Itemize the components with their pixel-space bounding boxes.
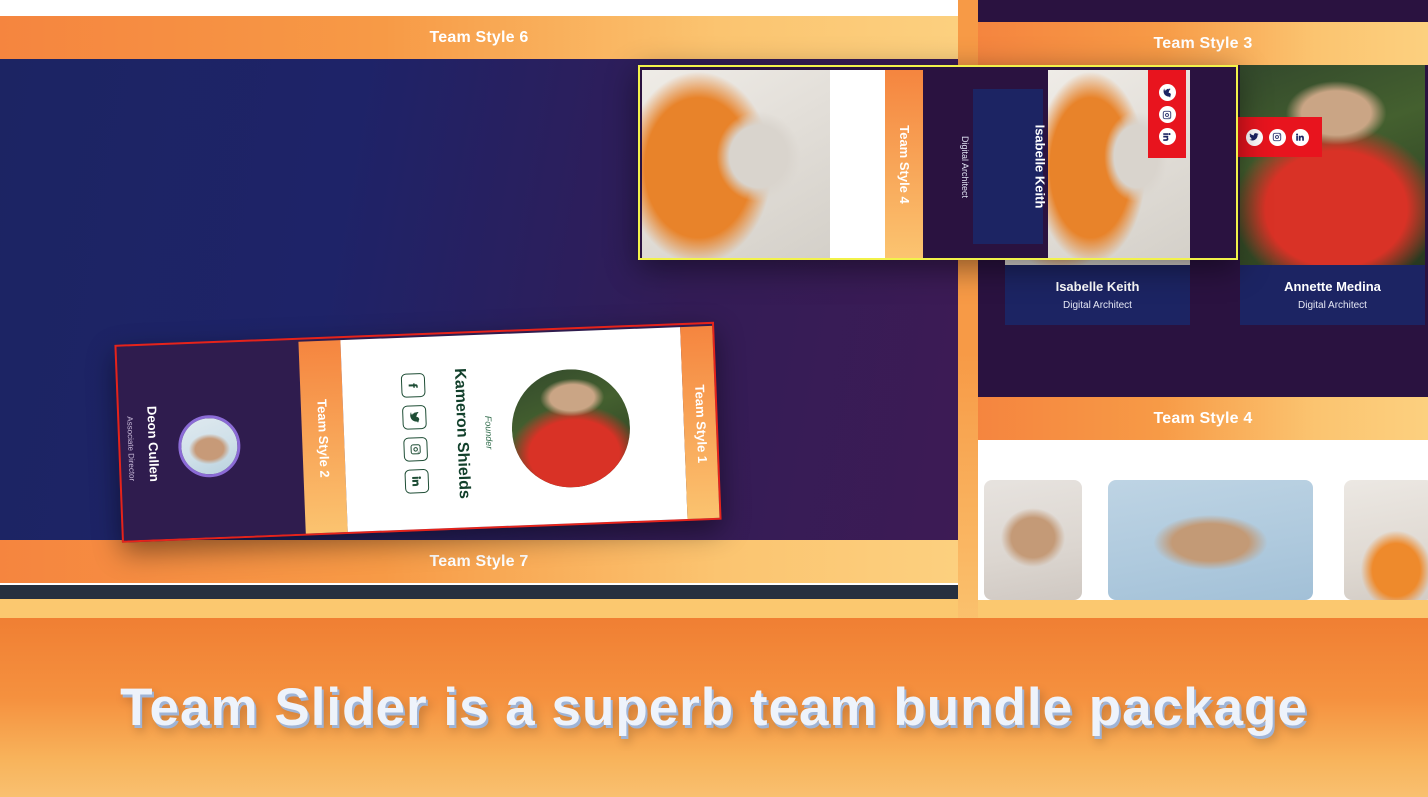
instagram-icon[interactable]: [1159, 106, 1176, 123]
twitter-icon[interactable]: [1159, 84, 1176, 101]
drag2-right-style-band: Team Style 1: [680, 326, 721, 521]
team-style-4-slider[interactable]: [978, 440, 1428, 600]
facebook-icon[interactable]: [401, 373, 426, 398]
dragged-card-wrapper[interactable]: Associate Director Deon Cullen Team Styl…: [114, 313, 734, 551]
team-style-7-label: Team Style 7: [429, 553, 528, 571]
twitter-icon[interactable]: [1246, 129, 1263, 146]
dark-divider-bar: [0, 585, 958, 599]
social-bar[interactable]: [1232, 117, 1322, 157]
team-style-6-label: Team Style 6: [429, 29, 528, 47]
social-bar[interactable]: [1148, 70, 1186, 158]
member-photo: [984, 480, 1082, 600]
team-card[interactable]: [984, 480, 1082, 600]
drag2-left-style-band: Team Style 2: [298, 340, 347, 535]
linkedin-icon[interactable]: [1159, 128, 1176, 145]
member-name: Annette Medina: [1284, 279, 1381, 294]
member-caption: Annette Medina Digital Architect: [1240, 265, 1425, 325]
team-card[interactable]: [1344, 480, 1428, 600]
member-photo: [1344, 480, 1428, 600]
member-photo: [1108, 480, 1313, 600]
linkedin-icon[interactable]: [404, 469, 429, 494]
drag1-tail-panel: [1190, 70, 1238, 258]
team-style-4-label: Team Style 4: [1153, 410, 1252, 428]
member-photo: [510, 367, 632, 489]
member-name: Deon Cullen: [144, 405, 162, 481]
style3-top-spacer: [978, 0, 1428, 22]
drag1-style-label: Team Style 4: [897, 125, 912, 204]
member-role: Digital Architect: [1298, 300, 1367, 311]
social-bar[interactable]: [400, 373, 431, 494]
team-style-3-band: Team Style 3: [978, 22, 1428, 65]
team-card[interactable]: [1108, 480, 1313, 600]
team-style-6-band: Team Style 6: [0, 16, 958, 59]
dragged-card-team-style-1-2[interactable]: Associate Director Deon Cullen Team Styl…: [114, 322, 721, 543]
drag2-left-name: Deon Cullen: [136, 383, 171, 504]
avatar: [177, 414, 241, 478]
member-caption: Sh G: [789, 367, 887, 441]
member-name: Isabelle Keith: [1033, 125, 1048, 209]
avatar: [510, 367, 632, 489]
drag1-style-band: Team Style 4: [885, 70, 923, 258]
dragged-card-team-style-4[interactable]: Team Style 4 Digital Architect Isabelle …: [638, 65, 1238, 260]
hero-banner: Team Slider is a superb team bundle pack…: [0, 618, 1428, 797]
member-role: G: [834, 409, 843, 424]
member-role: Founder: [483, 416, 494, 450]
member-name: Sh: [829, 385, 848, 405]
card-white-gap: [830, 70, 885, 258]
member-name: Isabelle Keith: [1056, 279, 1140, 294]
drag1-member-caption: Digital Architect Isabelle Keith: [973, 89, 1043, 244]
page-root: Team Style 6 Graves Architect: [0, 0, 1428, 797]
linkedin-icon[interactable]: [1292, 129, 1309, 146]
member-role: Associate Director: [125, 416, 136, 481]
team-style-4-band: Team Style 4: [978, 397, 1428, 440]
member-photo: [1240, 65, 1425, 265]
team-style-3-label: Team Style 3: [1153, 35, 1252, 53]
twitter-icon[interactable]: [402, 405, 427, 430]
instagram-icon[interactable]: [1269, 129, 1286, 146]
drag2-left-style-label: Team Style 2: [314, 398, 332, 477]
member-caption: Isabelle Keith Digital Architect: [1005, 265, 1190, 325]
instagram-icon[interactable]: [403, 437, 428, 462]
member-photo: [180, 417, 238, 475]
drag2-right-style-label: Team Style 1: [692, 384, 710, 463]
drag2-right-role: Founder: [474, 377, 504, 488]
member-role: Digital Architect: [960, 135, 970, 197]
hero-title: Team Slider is a superb team bundle pack…: [120, 677, 1308, 738]
member-role: Digital Architect: [1063, 300, 1132, 311]
member-photo: [642, 70, 830, 258]
member-name: Kameron Shields: [450, 368, 473, 499]
